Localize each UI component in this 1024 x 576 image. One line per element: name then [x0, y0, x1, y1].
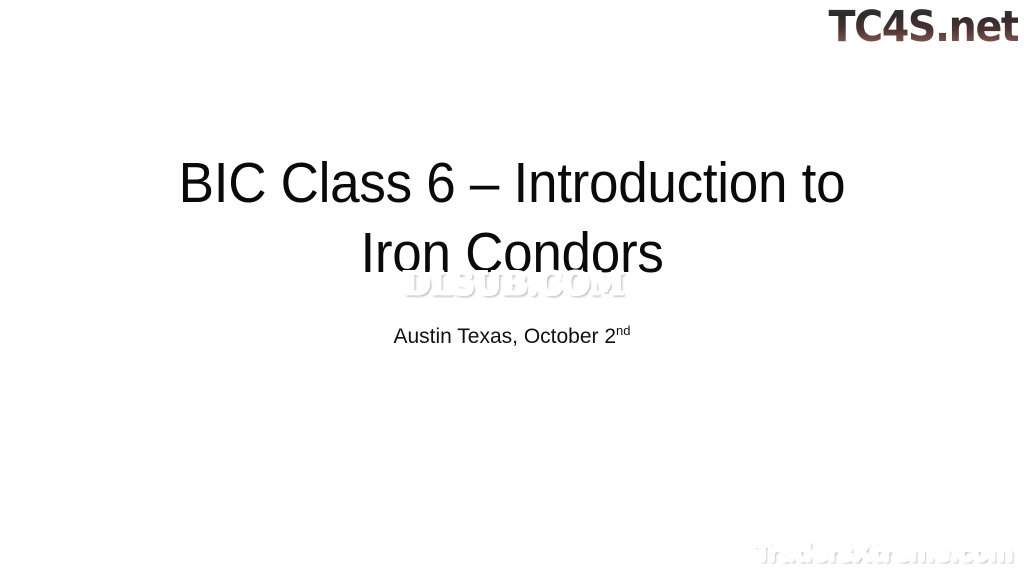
dlsub-watermark-text: DLSUB.COM: [403, 266, 624, 302]
presentation-slide: TC4S.net BIC Class 6 – Introduction to I…: [0, 0, 1024, 576]
tradersxtreme-watermark-text: TradersXtreme.com: [754, 538, 1012, 567]
dlsub-watermark: DLSUB.COM: [365, 266, 661, 302]
subtitle-block: Austin Texas, October 2nd: [96, 324, 928, 350]
subtitle-text: Austin Texas, October 2: [393, 325, 616, 348]
tc4s-logo: TC4S.net: [828, 2, 1018, 52]
tradersxtreme-watermark: TradersXtreme.com: [754, 538, 1012, 568]
subtitle-ordinal-suffix: nd: [616, 323, 630, 338]
slide-subtitle: Austin Texas, October 2nd: [96, 324, 928, 350]
